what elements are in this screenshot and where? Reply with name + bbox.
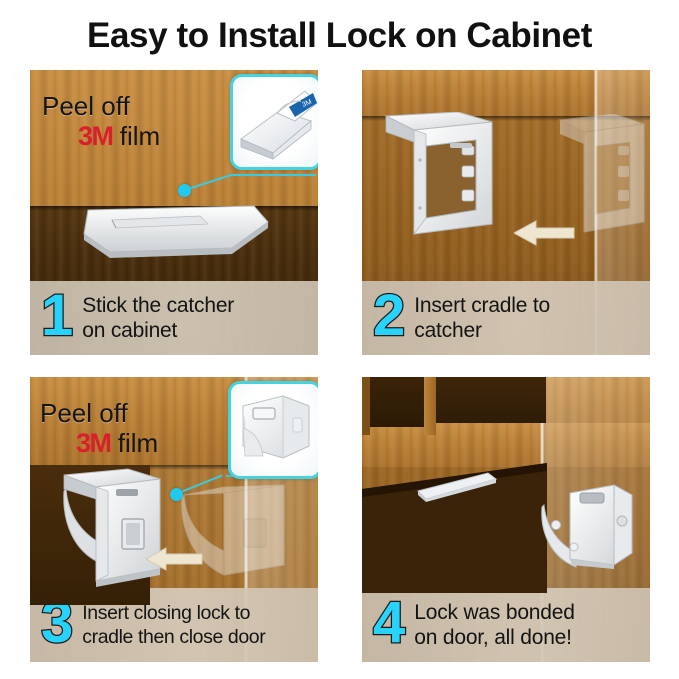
caption-line-2: catcher xyxy=(414,318,550,343)
shelf-cavity-right xyxy=(436,377,546,423)
step-caption-2: Insert cradle to catcher xyxy=(414,293,550,343)
step-number-2: 2 xyxy=(373,288,405,344)
step-caption-4: Lock was bonded on door, all done! xyxy=(414,600,574,650)
caption-bar-step-1: 1 Stick the catcher on cabinet xyxy=(30,281,318,355)
callout-leader-line xyxy=(230,174,316,176)
caption-line-1: Insert cradle to xyxy=(414,293,550,318)
steps-grid: Peel off 3M film 3M xyxy=(30,70,650,662)
peel-off-label: Peel off xyxy=(40,399,158,428)
callout-leader-dot xyxy=(170,488,183,501)
insert-direction-arrow xyxy=(146,545,204,573)
caption-line-2: cradle then close door xyxy=(82,625,265,649)
step-caption-1: Stick the catcher on cabinet xyxy=(82,293,234,343)
caption-bar-step-4: 4 Lock was bonded on door, all done! xyxy=(362,588,650,662)
three-m-film-label: 3M film xyxy=(40,428,158,458)
instruction-sheet: Easy to Install Lock on Cabinet Peel off… xyxy=(0,0,679,679)
shelf-vertical-divider xyxy=(424,377,436,435)
peel-off-annotation: Peel off 3M film xyxy=(40,399,158,458)
step-number-4: 4 xyxy=(373,595,405,651)
inset-callout-3m-tape: 3M xyxy=(230,74,318,170)
peel-off-annotation: Peel off 3M film xyxy=(42,92,160,151)
three-m-film-label: 3M film xyxy=(42,121,160,151)
installed-catcher-strip xyxy=(414,471,498,503)
step-caption-3: Insert closing lock to cradle then close… xyxy=(82,601,265,649)
caption-line-1: Lock was bonded xyxy=(414,600,574,625)
peel-off-label: Peel off xyxy=(42,92,160,121)
film-label: film xyxy=(111,428,159,458)
closing-lock-body-icon xyxy=(231,384,318,476)
panel-step-4: 4 Lock was bonded on door, all done! xyxy=(362,377,650,662)
inset-callout-closing-lock xyxy=(228,381,318,479)
caption-line-2: on door, all done! xyxy=(414,625,574,650)
three-m-brand-label: 3M xyxy=(78,121,113,151)
caption-line-1: Stick the catcher xyxy=(82,293,234,318)
shelf-divider-left xyxy=(362,377,370,435)
callout-leader-dot xyxy=(178,184,191,197)
panel-step-2: 2 Insert cradle to catcher xyxy=(362,70,650,355)
page-title: Easy to Install Lock on Cabinet xyxy=(0,16,679,56)
caption-bar-step-2: 2 Insert cradle to catcher xyxy=(362,281,650,355)
step-number-1: 1 xyxy=(41,288,73,344)
3m-adhesive-tape-icon: 3M xyxy=(233,77,318,167)
film-label: film xyxy=(113,121,161,151)
catcher-plate-hardware xyxy=(82,200,272,262)
shelf-cavity-left xyxy=(370,377,424,427)
three-m-brand-label: 3M xyxy=(76,428,111,458)
insert-direction-arrow xyxy=(514,218,576,248)
cradle-frame-hardware xyxy=(384,112,514,242)
panel-step-3: Peel off 3M film xyxy=(30,377,318,662)
caption-line-2: on cabinet xyxy=(82,318,234,343)
installed-lock-hardware xyxy=(540,481,648,577)
panel-step-1: Peel off 3M film 3M xyxy=(30,70,318,355)
